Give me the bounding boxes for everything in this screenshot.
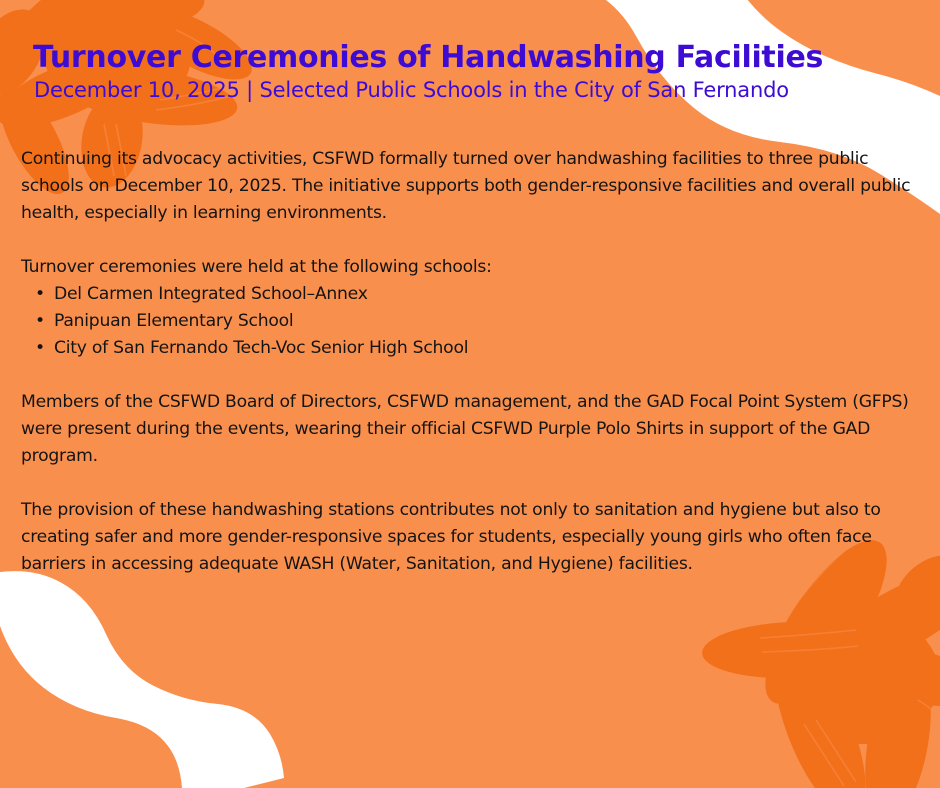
list-item-label: Del Carmen Integrated School–Annex bbox=[54, 284, 368, 304]
bullet-icon: • bbox=[35, 308, 45, 335]
poster-header: Turnover Ceremonies of Handwashing Facil… bbox=[33, 42, 913, 103]
list-item: • Panipuan Elementary School bbox=[21, 308, 919, 335]
page-subtitle: December 10, 2025 | Selected Public Scho… bbox=[34, 78, 913, 102]
impact-paragraph: The provision of these handwashing stati… bbox=[21, 497, 919, 578]
list-item-label: Panipuan Elementary School bbox=[54, 311, 293, 331]
poster-canvas: Turnover Ceremonies of Handwashing Facil… bbox=[0, 0, 940, 788]
schools-list: • Del Carmen Integrated School–Annex • P… bbox=[21, 281, 919, 362]
bullet-icon: • bbox=[35, 281, 45, 308]
page-title: Turnover Ceremonies of Handwashing Facil… bbox=[33, 42, 913, 74]
attendees-paragraph: Members of the CSFWD Board of Directors,… bbox=[21, 389, 919, 470]
paragraph-spacer bbox=[21, 227, 919, 254]
schools-list-intro: Turnover ceremonies were held at the fol… bbox=[21, 254, 919, 281]
list-item-label: City of San Fernando Tech-Voc Senior Hig… bbox=[54, 338, 468, 358]
bullet-icon: • bbox=[35, 335, 45, 362]
list-item: • Del Carmen Integrated School–Annex bbox=[21, 281, 919, 308]
poster-body: Continuing its advocacy activities, CSFW… bbox=[21, 146, 919, 578]
list-item: • City of San Fernando Tech-Voc Senior H… bbox=[21, 335, 919, 362]
paragraph-spacer bbox=[21, 362, 919, 389]
intro-paragraph: Continuing its advocacy activities, CSFW… bbox=[21, 146, 919, 227]
poster-content: Turnover Ceremonies of Handwashing Facil… bbox=[0, 0, 940, 788]
paragraph-spacer bbox=[21, 470, 919, 497]
